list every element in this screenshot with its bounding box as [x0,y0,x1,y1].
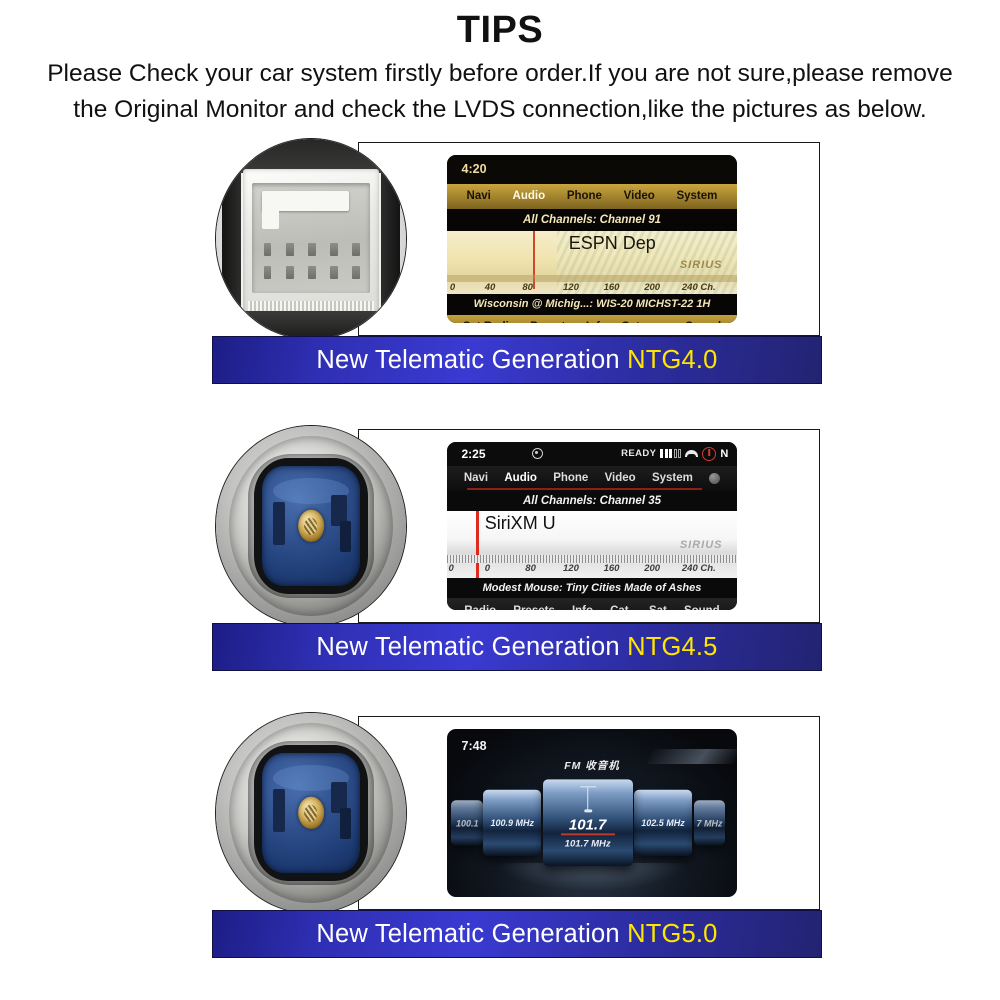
tick-240: 240 Ch. [682,563,716,574]
screen-clock: 7:48 [462,739,487,753]
connector-pin-grid [260,239,365,283]
menu-item-phone[interactable]: Phone [553,472,588,484]
menu-item-video[interactable]: Video [624,190,655,202]
phone-handset-icon [685,450,698,457]
connector-blue-insert [262,466,361,586]
tick-200: 200 [644,563,660,574]
current-frequency: 101.7 [543,816,633,833]
tick-240: 240 Ch. [682,282,716,293]
carousel-card-1-label: 100.1 [456,818,479,828]
soft-key-info[interactable]: Info [586,321,607,323]
gear-position-letter: N [720,448,728,460]
caption-model: NTG4.0 [627,346,717,374]
menu-item-navi[interactable]: Navi [464,472,488,484]
tick-0: 0 [485,563,490,574]
status-ready-label: READY [621,448,656,459]
carousel-card-4-label: 102.5 MHz [641,818,685,828]
soft-key-sound[interactable]: Sound [685,321,721,323]
soft-key-cat[interactable]: Cat. [610,605,632,610]
menu-item-system[interactable]: System [652,472,693,484]
screen-now-playing-bar: Modest Mouse: Tiny Cities Made of Ashes [447,578,737,598]
connector-photo-blue-fiber-optic-connector [215,425,407,627]
tick-120: 120 [563,282,579,293]
carousel-card-5-label: 7 MHz [696,818,722,828]
now-playing-text: Modest Mouse: Tiny Cities Made of Ashes [483,582,702,594]
connector-notch-lower [340,808,351,839]
connector-photo-blue-fiber-optic-connector [215,712,407,914]
carousel-card-current[interactable]: 101.7 101.7 MHz [543,779,633,866]
connector-top-shadow [216,139,406,173]
tick-80: 80 [522,282,533,293]
screen-clock-bar: 4:20 [447,155,737,184]
menu-item-system[interactable]: System [676,190,717,202]
tick-120: 120 [563,563,579,574]
ntg-group-ntg45: 2:25 READY N Navi Audio Phone Video Syst… [0,420,1000,707]
soft-key-presets[interactable]: Presets [513,605,555,610]
connector-gold-center-pin [298,797,324,829]
station-name: ESPN Dep [447,233,737,254]
screen-title: FM 收音机 [447,758,737,773]
station-name: SiriXM U [485,513,556,534]
now-playing-text: Wisconsin @ Michig...: WIS-20 MICHST-22 … [474,298,711,310]
connector-blue-insert [262,753,361,873]
menu-item-phone[interactable]: Phone [567,190,602,202]
white-rectangular-lvds-connector-icon [216,139,406,339]
caption-prefix: New Telematic Generation [316,346,627,374]
tips-header: TIPS Please Check your car system firstl… [0,0,1000,128]
screen-menu-bar: Navi Audio Phone Video System [447,184,737,209]
radio-screen-ntg50: 7:48 FM 收音机 100.1 100.9 MHz 101.7 101.7 … [447,729,737,897]
connector-gold-center-pin [298,510,324,542]
tips-line-1: Please Check your car system firstly bef… [0,56,1000,92]
screen-channel-bar: All Channels: Channel 91 [447,209,737,231]
menu-underline [467,488,702,490]
caption-prefix: New Telematic Generation [316,633,627,661]
radio-screen-ntg40: 4:20 Navi Audio Phone Video System All C… [447,155,737,323]
caption-bar-ntg40: New Telematic Generation NTG4.0 [212,336,822,384]
connector-latch-tab [262,191,279,229]
tick-160: 160 [604,563,620,574]
menu-item-audio[interactable]: Audio [504,472,537,484]
tick-0-left: 0 [448,563,453,574]
blue-fiber-optic-connector-icon [216,426,406,626]
tuner-tick-labels: 0 40 80 120 160 200 240 Ch. [447,280,737,294]
screen-menu-bar: Navi Audio Phone Video System [447,466,737,491]
soft-key-category[interactable]: Category [621,321,671,323]
caption-text: New Telematic Generation NTG5.0 [316,920,717,949]
tuner-scale-band [447,555,737,562]
tuner-tick-labels: 0 0 80 120 160 200 240 Ch. [447,563,737,578]
tick-160: 160 [604,282,620,293]
connector-slot-left [273,502,285,545]
caption-prefix: New Telematic Generation [316,920,627,948]
current-frequency-full: 101.7 MHz [543,839,633,850]
menu-item-video[interactable]: Video [605,472,636,484]
soft-key-sound[interactable]: Sound [684,605,720,610]
carousel-card-4[interactable]: 102.5 MHz [634,790,692,856]
screen-now-playing-bar: Wisconsin @ Michig...: WIS-20 MICHST-22 … [447,294,737,314]
ntg-group-list: 4:20 Navi Audio Phone Video System All C… [0,133,1000,994]
ntg-group-ntg40: 4:20 Navi Audio Phone Video System All C… [0,133,1000,420]
caption-model: NTG4.5 [627,633,717,661]
soft-key-presets[interactable]: Presets [530,321,572,323]
warning-circle-icon [702,447,716,461]
tick-0: 0 [450,282,455,293]
screen-status-bar: 2:25 READY N [447,442,737,466]
sirius-logo: SIRIUS [680,259,723,271]
status-right-group: READY N [621,447,728,461]
tick-80: 80 [525,563,536,574]
ntg-group-ntg50: 7:48 FM 收音机 100.1 100.9 MHz 101.7 101.7 … [0,707,1000,994]
connector-notch-lower [340,521,351,552]
connector-slot-left [273,789,285,832]
channel-line: All Channels: Channel 91 [523,214,661,226]
menu-item-audio[interactable]: Audio [513,190,546,202]
soft-key-sat-radio[interactable]: Sat Radio [463,321,516,323]
menu-item-navi[interactable]: Navi [467,190,491,202]
caption-model: NTG5.0 [627,920,717,948]
carousel-card-2[interactable]: 100.9 MHz [483,790,541,856]
screen-tuner-area: SiriXM U SIRIUS 0 0 80 120 160 200 240 C… [447,511,737,578]
page-title: TIPS [0,8,1000,52]
signal-strength-icon [660,449,681,458]
connector-right-shadow [381,173,400,311]
station-carousel[interactable]: 100.1 100.9 MHz 101.7 101.7 MHz 102.5 MH… [447,779,737,866]
screen-clock: 4:20 [462,162,487,176]
caption-bar-ntg50: New Telematic Generation NTG5.0 [212,910,822,958]
carousel-card-2-label: 100.9 MHz [490,818,534,828]
radio-screen-ntg45: 2:25 READY N Navi Audio Phone Video Syst… [447,442,737,610]
antenna-icon [587,787,589,810]
current-frequency-underline [561,834,615,836]
blue-fiber-optic-connector-icon [216,713,406,913]
connector-bottom-shadow [216,311,406,339]
tick-40: 40 [485,282,496,293]
screen-clock: 2:25 [462,447,486,461]
soft-key-radio[interactable]: Radio [464,605,496,610]
soft-key-info[interactable]: Info [572,605,593,610]
carousel-card-1[interactable]: 100.1 [451,800,483,845]
screen-channel-bar: All Channels: Channel 35 [447,491,737,511]
sirius-logo: SIRIUS [680,539,723,551]
recirculation-icon [532,448,543,459]
caption-text: New Telematic Generation NTG4.5 [316,633,717,662]
channel-line: All Channels: Channel 35 [523,495,661,507]
screen-soft-key-bar: Sat Radio Presets Info Category Sound [447,315,737,323]
soft-key-sat[interactable]: Sat [649,605,667,610]
rotary-knob-icon[interactable] [709,473,720,484]
connector-photo-white-rectangular-lvds-connector [215,138,407,340]
connector-left-shadow [222,173,241,311]
tips-line-2: the Original Monitor and check the LVDS … [0,92,1000,128]
caption-text: New Telematic Generation NTG4.0 [316,346,717,375]
carousel-card-5[interactable]: 7 MHz [694,800,726,845]
screen-soft-key-bar: Radio Presets Info Cat. Sat Sound [447,598,737,610]
caption-bar-ntg45: New Telematic Generation NTG4.5 [212,623,822,671]
screen-tuner-area: ESPN Dep SIRIUS 0 40 80 120 160 200 240 … [447,231,737,295]
screen-floor-glow [499,863,685,890]
tick-200: 200 [644,282,660,293]
